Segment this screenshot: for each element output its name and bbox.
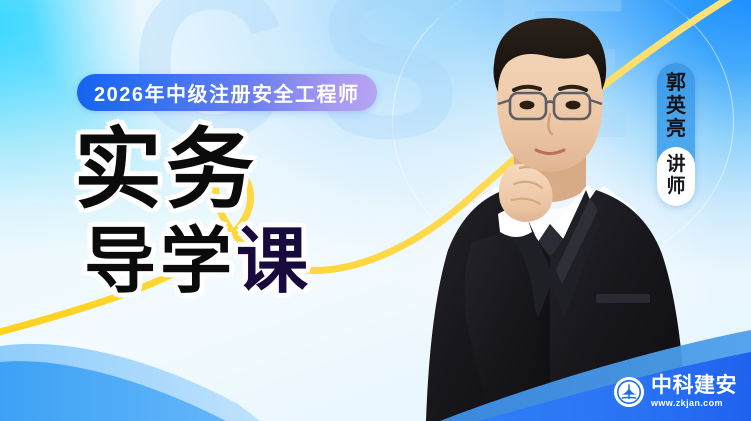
headline-secondary-accent: 课 — [236, 222, 312, 302]
presenter-name-char: 英 — [666, 95, 686, 118]
zkjan-emblem-glyph — [617, 380, 641, 404]
brand-logo-words: 中科建安 www.zkjan.com — [651, 375, 737, 408]
course-banner: CSE 2026年中级注册安全工程师 实务 导学课 — [0, 0, 751, 421]
course-badge-label: 2026年中级注册安全工程师 — [94, 78, 360, 107]
course-badge: 2026年中级注册安全工程师 — [77, 74, 377, 111]
presenter-name-char: 郭 — [666, 72, 686, 95]
presenter-name-char: 亮 — [666, 118, 686, 141]
headline-secondary: 导学课 — [84, 226, 404, 298]
headline-primary: 实务 — [74, 126, 404, 214]
brand-name: 中科建安 — [651, 375, 737, 396]
presenter-role-pill: 讲 师 — [657, 147, 695, 206]
headline-block: 实务 导学课 — [74, 126, 404, 298]
presenter-name-pill: 郭 英 亮 讲 师 — [657, 63, 695, 206]
presenter-role-char: 师 — [666, 176, 685, 198]
presenter-role-char: 讲 — [666, 154, 685, 176]
brand-url: www.zkjan.com — [651, 399, 737, 408]
headline-secondary-prefix: 导学 — [84, 222, 236, 302]
zkjan-emblem-icon — [614, 377, 644, 407]
brand-logo: 中科建安 www.zkjan.com — [614, 375, 737, 408]
